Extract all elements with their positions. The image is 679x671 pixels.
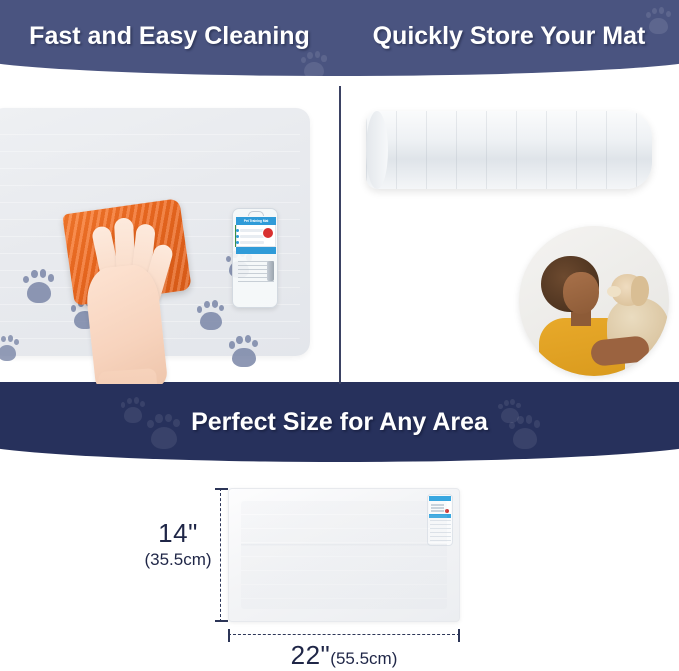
bullet-line	[431, 507, 444, 509]
paw-print-icon	[196, 299, 226, 331]
paw-print-icon	[300, 50, 328, 80]
paw-print-icon	[0, 334, 20, 362]
label-instructions	[430, 520, 451, 544]
dimension-cap	[215, 620, 228, 622]
paw-print-icon	[228, 334, 260, 368]
width-dimension-line	[228, 634, 460, 635]
height-value-cm: (35.5cm)	[140, 550, 216, 570]
width-value-cm: (55.5cm)	[330, 649, 397, 668]
height-dimension-label: 14" (35.5cm)	[140, 518, 216, 570]
panel-divider	[339, 86, 341, 384]
middle-banner: Perfect Size for Any Area	[0, 382, 679, 474]
clip-icon	[267, 261, 274, 281]
label-card-header: Pet Training Mat	[236, 217, 276, 225]
label-card-body	[236, 225, 276, 247]
lifestyle-inset-photo	[519, 226, 669, 376]
bullet-dot	[236, 235, 239, 238]
product-label-card: Pet Training Mat	[232, 208, 278, 308]
product-infographic: Fast and Easy Cleaning Quickly Store You…	[0, 0, 679, 667]
badge-icon	[263, 228, 273, 238]
bullet-line	[240, 241, 264, 244]
label-card-stripe	[236, 247, 276, 254]
size-diagram: 14" (35.5cm) 22"(55.5cm)	[0, 474, 679, 667]
width-dimension-label: 22"(55.5cm)	[228, 640, 460, 671]
rolled-mat-image	[366, 111, 652, 189]
hang-hole-icon	[248, 211, 264, 216]
hand-image	[78, 214, 174, 384]
dog-snout	[607, 286, 621, 297]
bullet-dot	[236, 241, 239, 244]
label-bottom-stripe	[429, 514, 451, 518]
bullet-line	[240, 229, 264, 232]
product-label-small	[427, 494, 453, 546]
label-middle	[429, 501, 451, 514]
bullet-line	[431, 504, 444, 506]
height-dimension-line	[220, 488, 221, 622]
badge-icon	[445, 509, 449, 513]
bullet-line	[240, 235, 264, 238]
top-banner-right-title: Quickly Store Your Mat	[339, 22, 679, 51]
photo-area: Pet Training Mat	[0, 86, 679, 384]
top-banner-left-title: Fast and Easy Cleaning	[0, 22, 339, 51]
middle-banner-title: Perfect Size for Any Area	[0, 408, 679, 437]
bullet-line	[431, 510, 444, 512]
dimension-cap	[215, 488, 228, 490]
top-banner: Fast and Easy Cleaning Quickly Store You…	[0, 0, 679, 88]
width-value-inches: 22"	[291, 640, 331, 670]
mat-size-illustration	[228, 488, 460, 622]
left-photo-panel: Pet Training Mat	[0, 86, 339, 384]
bullet-dot	[236, 229, 239, 232]
wrist	[98, 368, 160, 384]
right-photo-panel	[341, 86, 679, 384]
paw-print-icon	[22, 268, 56, 304]
height-value-inches: 14"	[140, 518, 216, 549]
roll-end	[366, 111, 388, 189]
face	[563, 272, 599, 314]
